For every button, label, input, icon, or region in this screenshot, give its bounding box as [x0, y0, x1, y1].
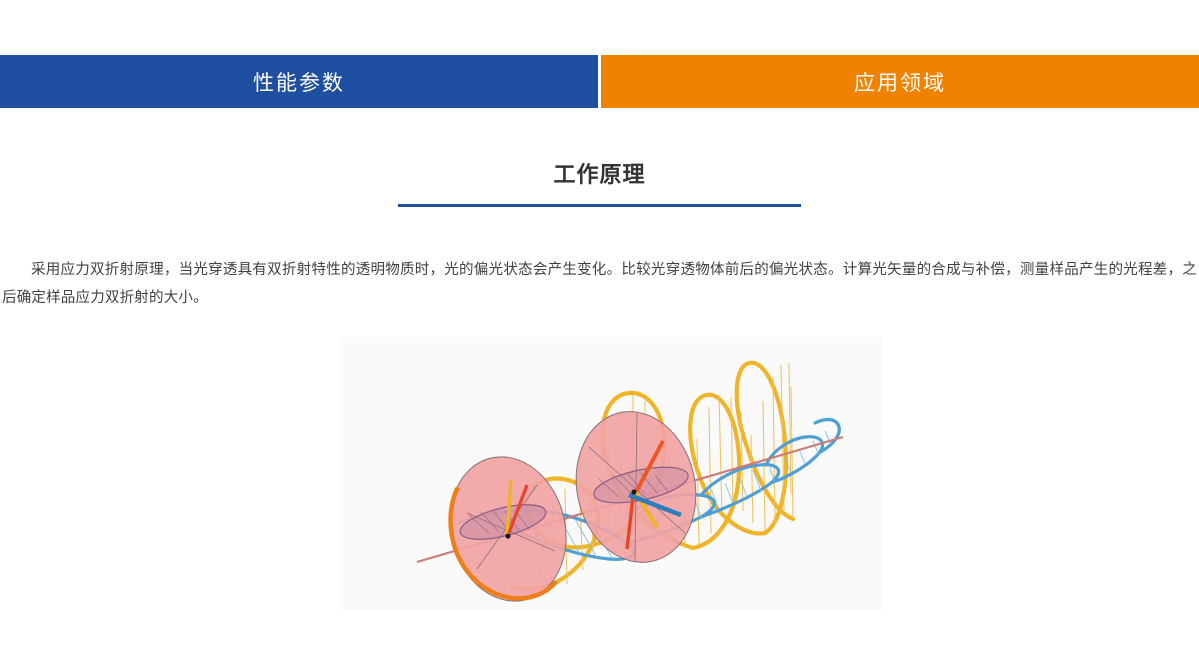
polarization-diagram-svg [341, 337, 882, 610]
tab-performance-parameters-label: 性能参数 [253, 67, 345, 97]
principle-illustration [341, 337, 882, 610]
tab-performance-parameters[interactable]: 性能参数 [0, 55, 598, 108]
section-header: 工作原理 [0, 160, 1199, 207]
tab-application-fields[interactable]: 应用领域 [601, 55, 1199, 108]
principle-description: 采用应力双折射原理，当光穿透具有双折射特性的透明物质时，光的偏光状态会产生变化。… [2, 256, 1197, 312]
polarizer-disc-left [435, 444, 581, 610]
tab-application-fields-label: 应用领域 [854, 67, 946, 97]
tab-bar: 性能参数 应用领域 [0, 55, 1199, 108]
title-underline [398, 204, 801, 207]
page-title: 工作原理 [0, 160, 1199, 190]
